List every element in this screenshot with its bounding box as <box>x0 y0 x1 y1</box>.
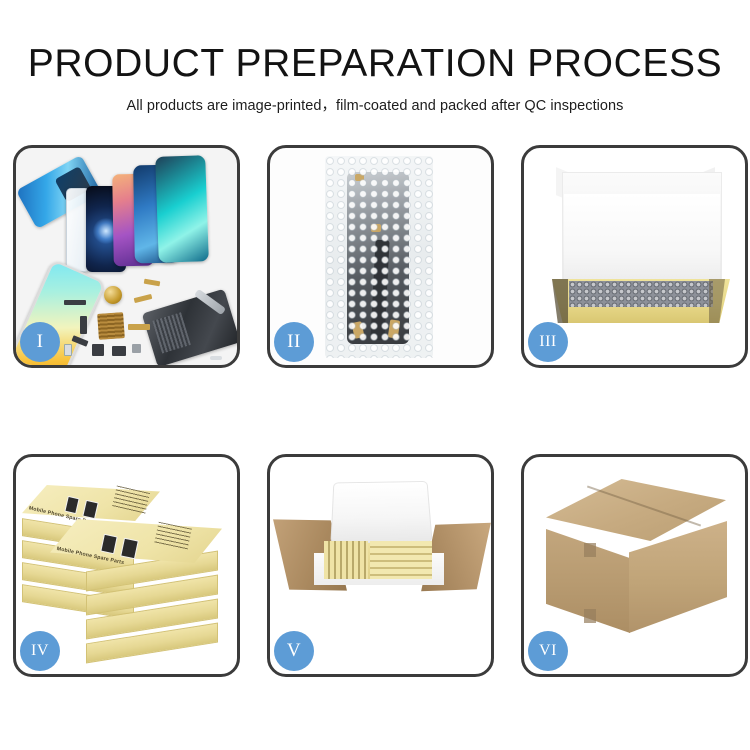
vibration-motor-icon <box>104 286 122 304</box>
foam-lid-icon <box>330 481 432 544</box>
step-4-badge: IV <box>20 631 60 671</box>
white-foam-sheet-icon <box>564 194 720 280</box>
process-step-4[interactable]: Mobile Phone Spare Parts Mobile Phone Sp… <box>13 454 240 677</box>
part-small-a-icon <box>80 316 87 334</box>
header: PRODUCT PREPARATION PROCESS All products… <box>0 0 750 116</box>
page-subtitle: All products are image-printed，film-coat… <box>0 86 750 116</box>
packed-boxes-left-icon <box>324 541 368 579</box>
connector-grid-icon <box>97 312 125 340</box>
process-step-2[interactable]: II <box>267 145 494 368</box>
packed-boxes-right-icon <box>370 541 432 579</box>
product-preparation-infographic: PRODUCT PREPARATION PROCESS All products… <box>0 0 750 750</box>
step-2-badge: II <box>274 322 314 362</box>
part-gold-flex-icon <box>134 294 153 303</box>
part-antenna-icon <box>144 279 161 287</box>
process-step-5[interactable]: V <box>267 454 494 677</box>
part-speaker-icon <box>112 346 126 356</box>
step-3-badge: III <box>528 322 568 362</box>
grey-bubble-wrap-icon <box>569 281 713 307</box>
step-6-badge: VI <box>528 631 568 671</box>
step-5-badge: V <box>274 631 314 671</box>
carton-body-icon <box>304 575 454 667</box>
part-strip-icon <box>64 300 86 305</box>
part-screw-icon <box>132 344 141 353</box>
part-sim-tray-icon <box>64 344 72 356</box>
page-title: PRODUCT PREPARATION PROCESS <box>0 0 750 86</box>
part-pin-icon <box>210 356 222 360</box>
box-tray-left-edge-icon <box>552 279 568 323</box>
process-step-grid: I II <box>13 145 748 676</box>
process-step-6[interactable]: VI <box>521 454 748 677</box>
bubble-wrap-bag-icon <box>325 156 433 358</box>
carton-tape-lower-icon <box>584 609 596 623</box>
phone-back-cover-icon <box>142 289 237 365</box>
part-gold-strip-icon <box>128 324 150 330</box>
step-1-badge: I <box>20 322 60 362</box>
bubble-texture-overlay <box>325 156 433 358</box>
part-camera-icon <box>92 344 104 356</box>
process-step-1[interactable]: I <box>13 145 240 368</box>
carton-tape-upper-icon <box>584 543 596 557</box>
phone-display-teal-icon <box>155 155 209 263</box>
process-step-3[interactable]: III <box>521 145 748 368</box>
